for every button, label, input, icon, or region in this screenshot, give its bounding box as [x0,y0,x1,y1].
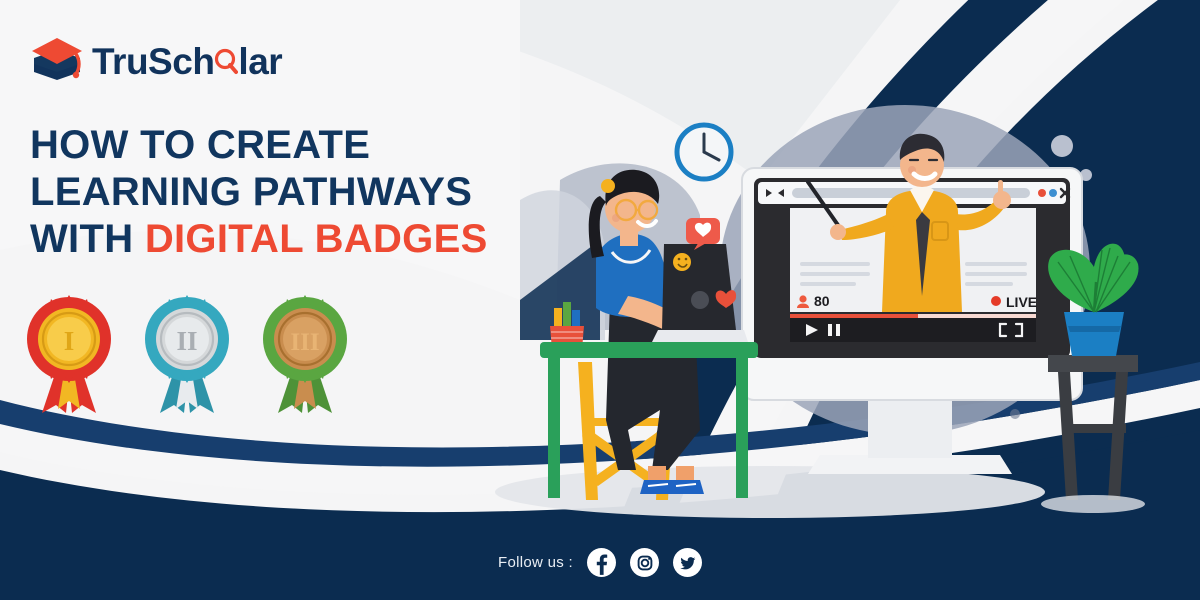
wall-clock-icon [677,125,731,179]
gold-badge-rank: I [64,326,75,356]
desktop-monitor: 80 LIVE [742,134,1082,474]
bronze-badge: III [258,293,352,415]
browser-dot-blue [1049,189,1057,197]
facebook-icon[interactable] [587,548,616,577]
graduation-cap-icon [30,36,84,80]
badge-group: I II [22,293,352,415]
progress-fill [790,314,918,318]
brand-name-post: lar [238,41,282,82]
browser-dot-red [1038,189,1046,197]
brand-name-pre: TruSch [92,41,214,82]
headline-line-3: WITH DIGITAL BADGES [30,216,550,263]
viewer-count-text: 80 [814,293,830,309]
silver-badge: II [140,293,234,415]
page-title: HOW TO CREATE LEARNING PATHWAYS WITH DIG… [30,122,550,262]
brand-logo[interactable]: TruSchlar [30,36,282,80]
headline-line-2: LEARNING PATHWAYS [30,169,550,216]
headline-line-3-plain: WITH [30,217,145,261]
headline-accent: DIGITAL BADGES [145,217,488,261]
banner-root: 80 LIVE [0,0,1200,600]
headline-line-1: HOW TO CREATE [30,122,550,169]
silver-badge-rank: II [176,326,197,356]
smiley-icon [673,253,691,271]
record-dot-icon [991,296,1001,306]
magnifying-glass-icon [214,36,238,80]
twitter-icon[interactable] [673,548,702,577]
live-label: LIVE [1006,294,1037,310]
bronze-badge-rank: III [290,329,319,356]
gold-badge: I [22,293,116,415]
follow-us-label: Follow us : [498,554,573,571]
instagram-icon[interactable] [630,548,659,577]
brand-name: TruSchlar [92,36,282,80]
social-footer: Follow us : [0,548,1200,577]
